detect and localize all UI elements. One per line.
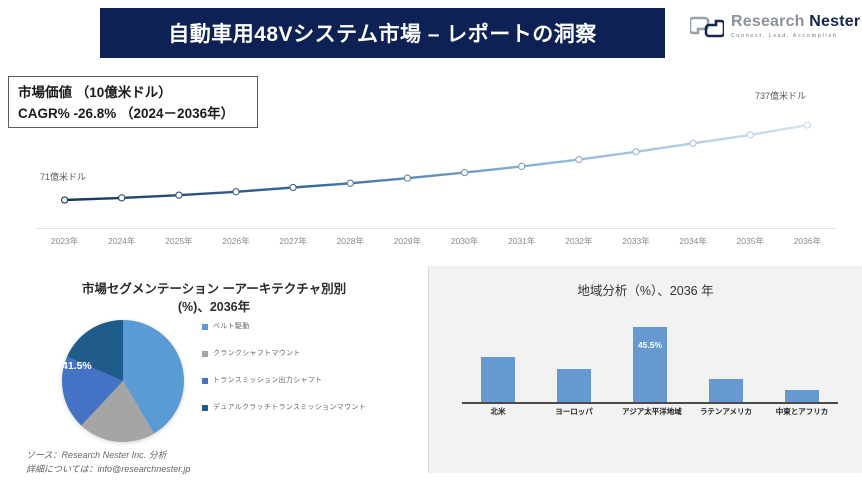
start-value-annotation: 71億米ドル (40, 170, 86, 183)
pie-legend-item: ベルト駆動 (202, 322, 387, 332)
pie-chart-svg (52, 318, 194, 446)
line-point (62, 197, 68, 203)
source-line-1: ソース：Research Nester Inc. 分析 (26, 449, 190, 463)
header-banner: 自動車用48Vシステム市場 – レポートの洞察 (100, 8, 665, 58)
bar-category-label: 中東とアフリカ (774, 406, 830, 417)
segmentation-pie-chart (52, 318, 194, 446)
pie-legend-label: デュアルクラッチトランスミッションマウント (213, 403, 366, 413)
pie-legend-swatch (202, 378, 208, 384)
bar-chart-axis-line (462, 402, 838, 404)
pie-legend-swatch (202, 405, 208, 411)
pie-legend: ベルト駆動クランクシャフトマウントトランスミッション出力シャフトデュアルクラッチ… (202, 322, 387, 431)
bar-category-label: 北米 (470, 406, 526, 417)
report-infographic-page: 自動車用48Vシステム市場 – レポートの洞察 Research Nester … (0, 0, 862, 485)
x-axis-tick: 2035年 (722, 235, 779, 247)
pie-legend-label: ベルト駆動 (213, 322, 250, 332)
pie-legend-item: トランスミッション出力シャフト (202, 376, 387, 386)
bar (557, 369, 591, 402)
logo-tagline: Connect. Lead. Accomplish (731, 34, 860, 39)
bar (785, 390, 819, 402)
x-axis-tick: 2025年 (150, 235, 207, 247)
segmentation-title-line1: 市場セグメンテーション ーアーキテクチャ別別 (82, 282, 346, 296)
source-line-2: 詳細については：info@researchnester.jp (26, 463, 190, 477)
bar-column (774, 322, 830, 402)
x-axis-tick: 2034年 (665, 235, 722, 247)
line-point (519, 163, 525, 169)
bar-category-label: アジア太平洋地域 (622, 406, 678, 417)
logo-name: Research Nester (731, 14, 860, 30)
bar-column (698, 322, 754, 402)
line-chart-svg (0, 60, 862, 260)
line-series-path (65, 125, 808, 200)
pie-data-label: 41.5% (62, 360, 92, 372)
bar-column: 45.5% (622, 322, 678, 402)
page-title: 自動車用48Vシステム市場 – レポートの洞察 (168, 18, 597, 48)
line-point (233, 189, 239, 195)
bar-column (470, 322, 526, 402)
pie-legend-item: クランクシャフトマウント (202, 349, 387, 359)
line-point (462, 170, 468, 176)
bar-data-label: 45.5% (638, 340, 662, 350)
bar (633, 327, 667, 403)
pie-legend-swatch (202, 351, 208, 357)
pie-slices (62, 320, 184, 442)
market-value-line-chart: 71億米ドル 737億米ドル 2023年2024年2025年2026年2027年… (0, 60, 862, 260)
pie-legend-label: トランスミッション出力シャフト (213, 376, 322, 386)
bar-column (546, 322, 602, 402)
x-axis-tick: 2031年 (493, 235, 550, 247)
line-point (404, 175, 410, 181)
x-axis-tick: 2029年 (379, 235, 436, 247)
line-point (576, 157, 582, 163)
source-note: ソース：Research Nester Inc. 分析 詳細については：info… (26, 449, 190, 476)
line-point (804, 122, 810, 128)
x-axis-tick: 2030年 (436, 235, 493, 247)
bar-chart-category-labels: 北米ヨーロッパアジア太平洋地域ラテンアメリカ中東とアフリカ (470, 406, 830, 417)
line-point (633, 149, 639, 155)
x-axis-tick: 2024年 (93, 235, 150, 247)
brand-logo: Research Nester Connect. Lead. Accomplis… (690, 14, 860, 40)
x-axis-tick: 2033年 (607, 235, 664, 247)
x-axis-tick: 2032年 (550, 235, 607, 247)
bar-category-label: ヨーロッパ (546, 406, 602, 417)
segmentation-title: 市場セグメンテーション ーアーキテクチャ別別 (%)、2036年 (0, 266, 428, 316)
x-axis-tick: 2036年 (779, 235, 836, 247)
x-axis-tick-labels: 2023年2024年2025年2026年2027年2028年2029年2030年… (36, 235, 836, 247)
bar (709, 379, 743, 402)
x-axis-tick: 2027年 (265, 235, 322, 247)
pie-legend-swatch (202, 324, 208, 330)
research-nester-logo-icon (690, 14, 724, 40)
bar-category-label: ラテンアメリカ (698, 406, 754, 417)
line-point (747, 132, 753, 138)
line-point (119, 195, 125, 201)
bar (481, 357, 515, 402)
pie-legend-item: デュアルクラッチトランスミッションマウント (202, 403, 387, 413)
line-point (176, 192, 182, 198)
line-point (290, 184, 296, 190)
line-series-points (62, 122, 811, 203)
regional-analysis-title: 地域分析（%）、2036 年 (429, 266, 862, 300)
logo-text-block: Research Nester Connect. Lead. Accomplis… (731, 14, 860, 39)
segmentation-title-line2: (%)、2036年 (178, 300, 250, 314)
regional-bar-chart: 45.5% (470, 322, 830, 402)
line-point (347, 180, 353, 186)
x-axis-tick: 2026年 (207, 235, 264, 247)
end-value-annotation: 737億米ドル (755, 89, 806, 102)
line-point (690, 140, 696, 146)
x-axis-tick: 2023年 (36, 235, 93, 247)
logo-name-light: Research (731, 13, 809, 30)
logo-name-bold: Nester (809, 13, 860, 30)
x-axis-tick: 2028年 (322, 235, 379, 247)
pie-legend-label: クランクシャフトマウント (213, 349, 301, 359)
x-axis-line (36, 228, 836, 229)
